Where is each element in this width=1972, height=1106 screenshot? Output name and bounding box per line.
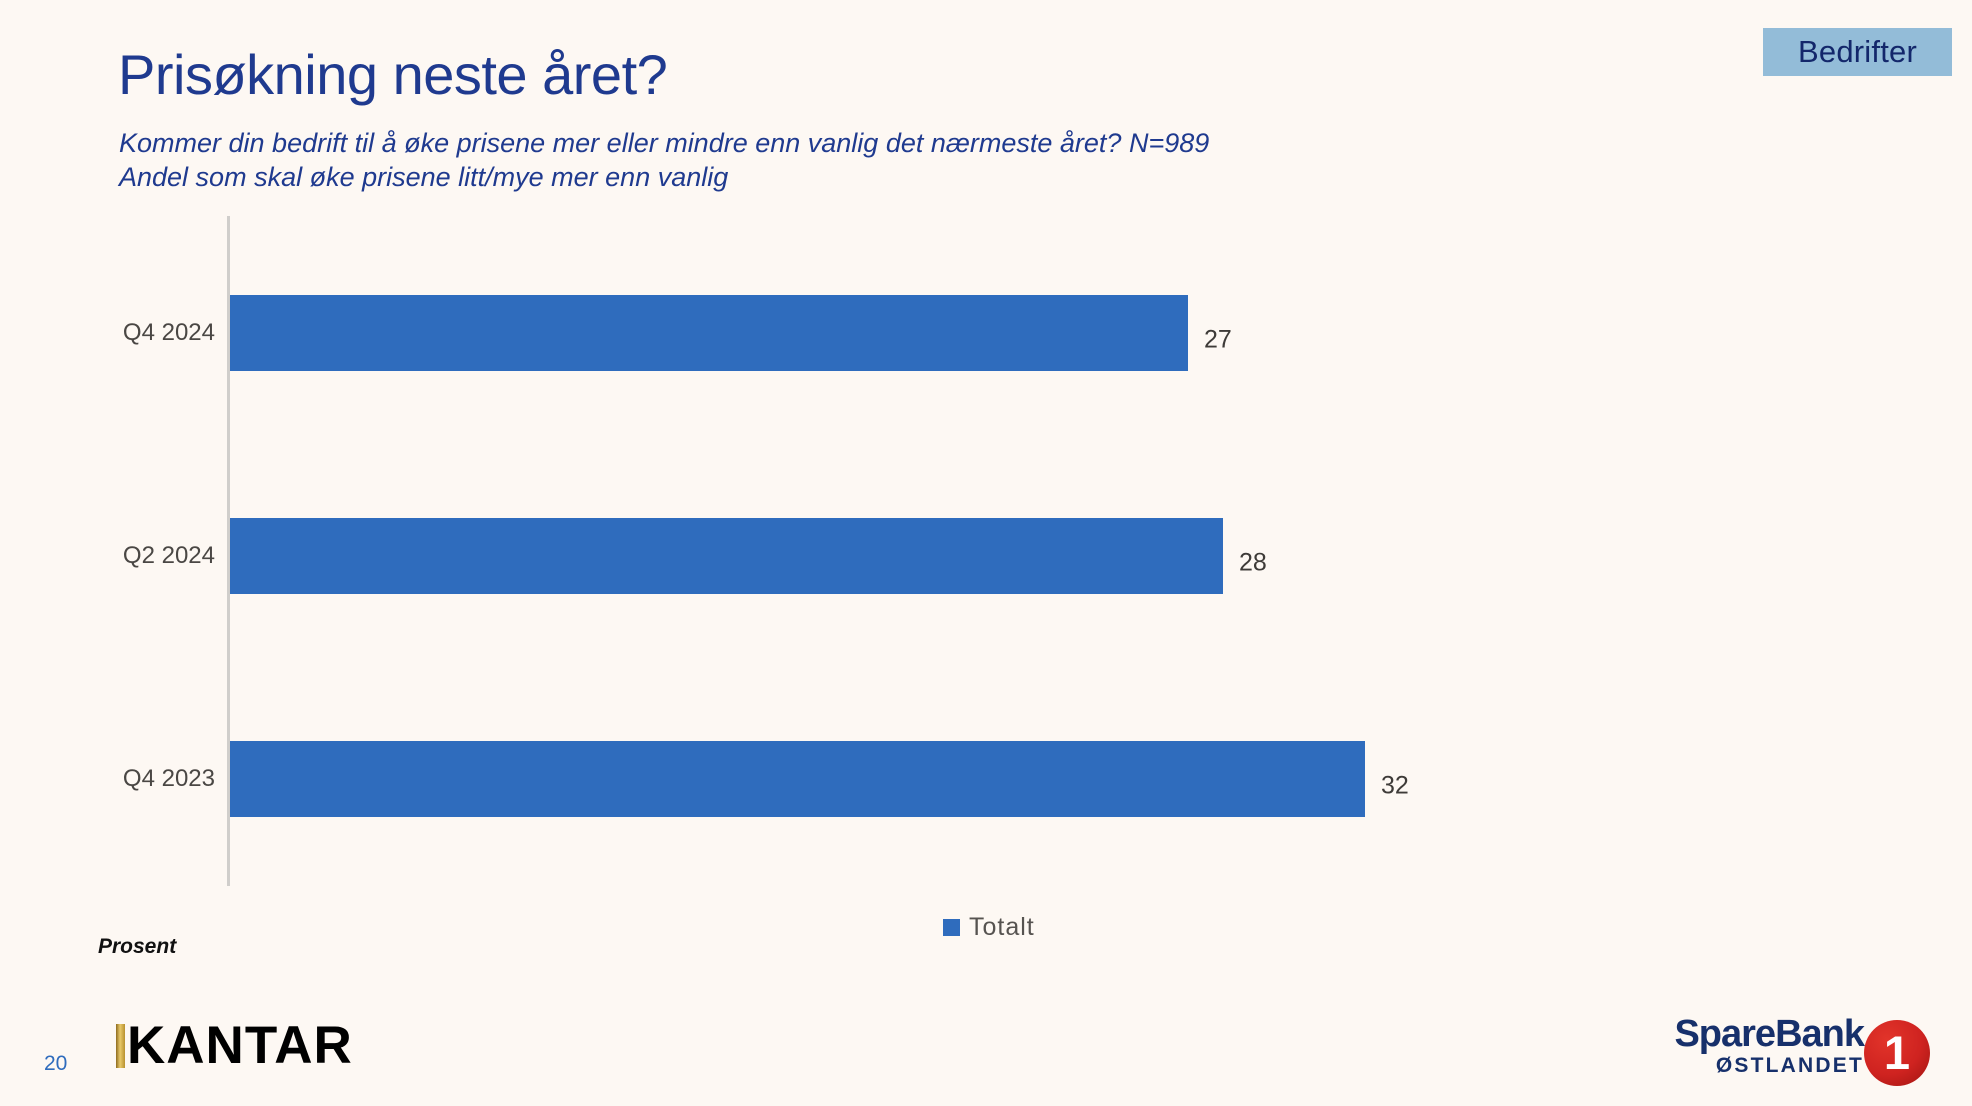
- chart-bar: [230, 518, 1223, 594]
- bar-value-label: 32: [1381, 772, 1409, 801]
- bar-value-label: 27: [1204, 326, 1232, 355]
- axis-unit-caption: Prosent: [98, 935, 176, 959]
- chart-legend: Totalt: [943, 913, 1035, 942]
- legend-swatch-totalt: [943, 919, 960, 936]
- slide-canvas: Bedrifter Prisøkning neste året? Kommer …: [0, 0, 1972, 1106]
- chart-bar: [230, 741, 1365, 817]
- sparebank-one-mark: 1: [1864, 1020, 1930, 1086]
- sparebank-name: SpareBank: [1674, 1014, 1864, 1054]
- bar-value-label: 28: [1239, 549, 1267, 578]
- category-label: Q4 2024: [0, 319, 215, 347]
- page-number: 20: [44, 1052, 67, 1076]
- category-label: Q4 2023: [0, 765, 215, 793]
- kantar-wordmark: KANTAR: [127, 1024, 353, 1068]
- category-label: Q2 2024: [0, 542, 215, 570]
- sparebank-wordmark: SpareBank ØSTLANDET: [1674, 1014, 1864, 1078]
- chart-bar: [230, 295, 1188, 371]
- sparebank-region: ØSTLANDET: [1674, 1054, 1864, 1078]
- legend-label-totalt: Totalt: [969, 913, 1035, 942]
- kantar-logo: KANTAR: [116, 1024, 353, 1068]
- sparebank-red-circle-icon: 1: [1864, 1020, 1930, 1086]
- sparebank1-ostlandet-logo: SpareBank ØSTLANDET 1: [1674, 1014, 1929, 1090]
- kantar-gold-bar-icon: [116, 1024, 125, 1068]
